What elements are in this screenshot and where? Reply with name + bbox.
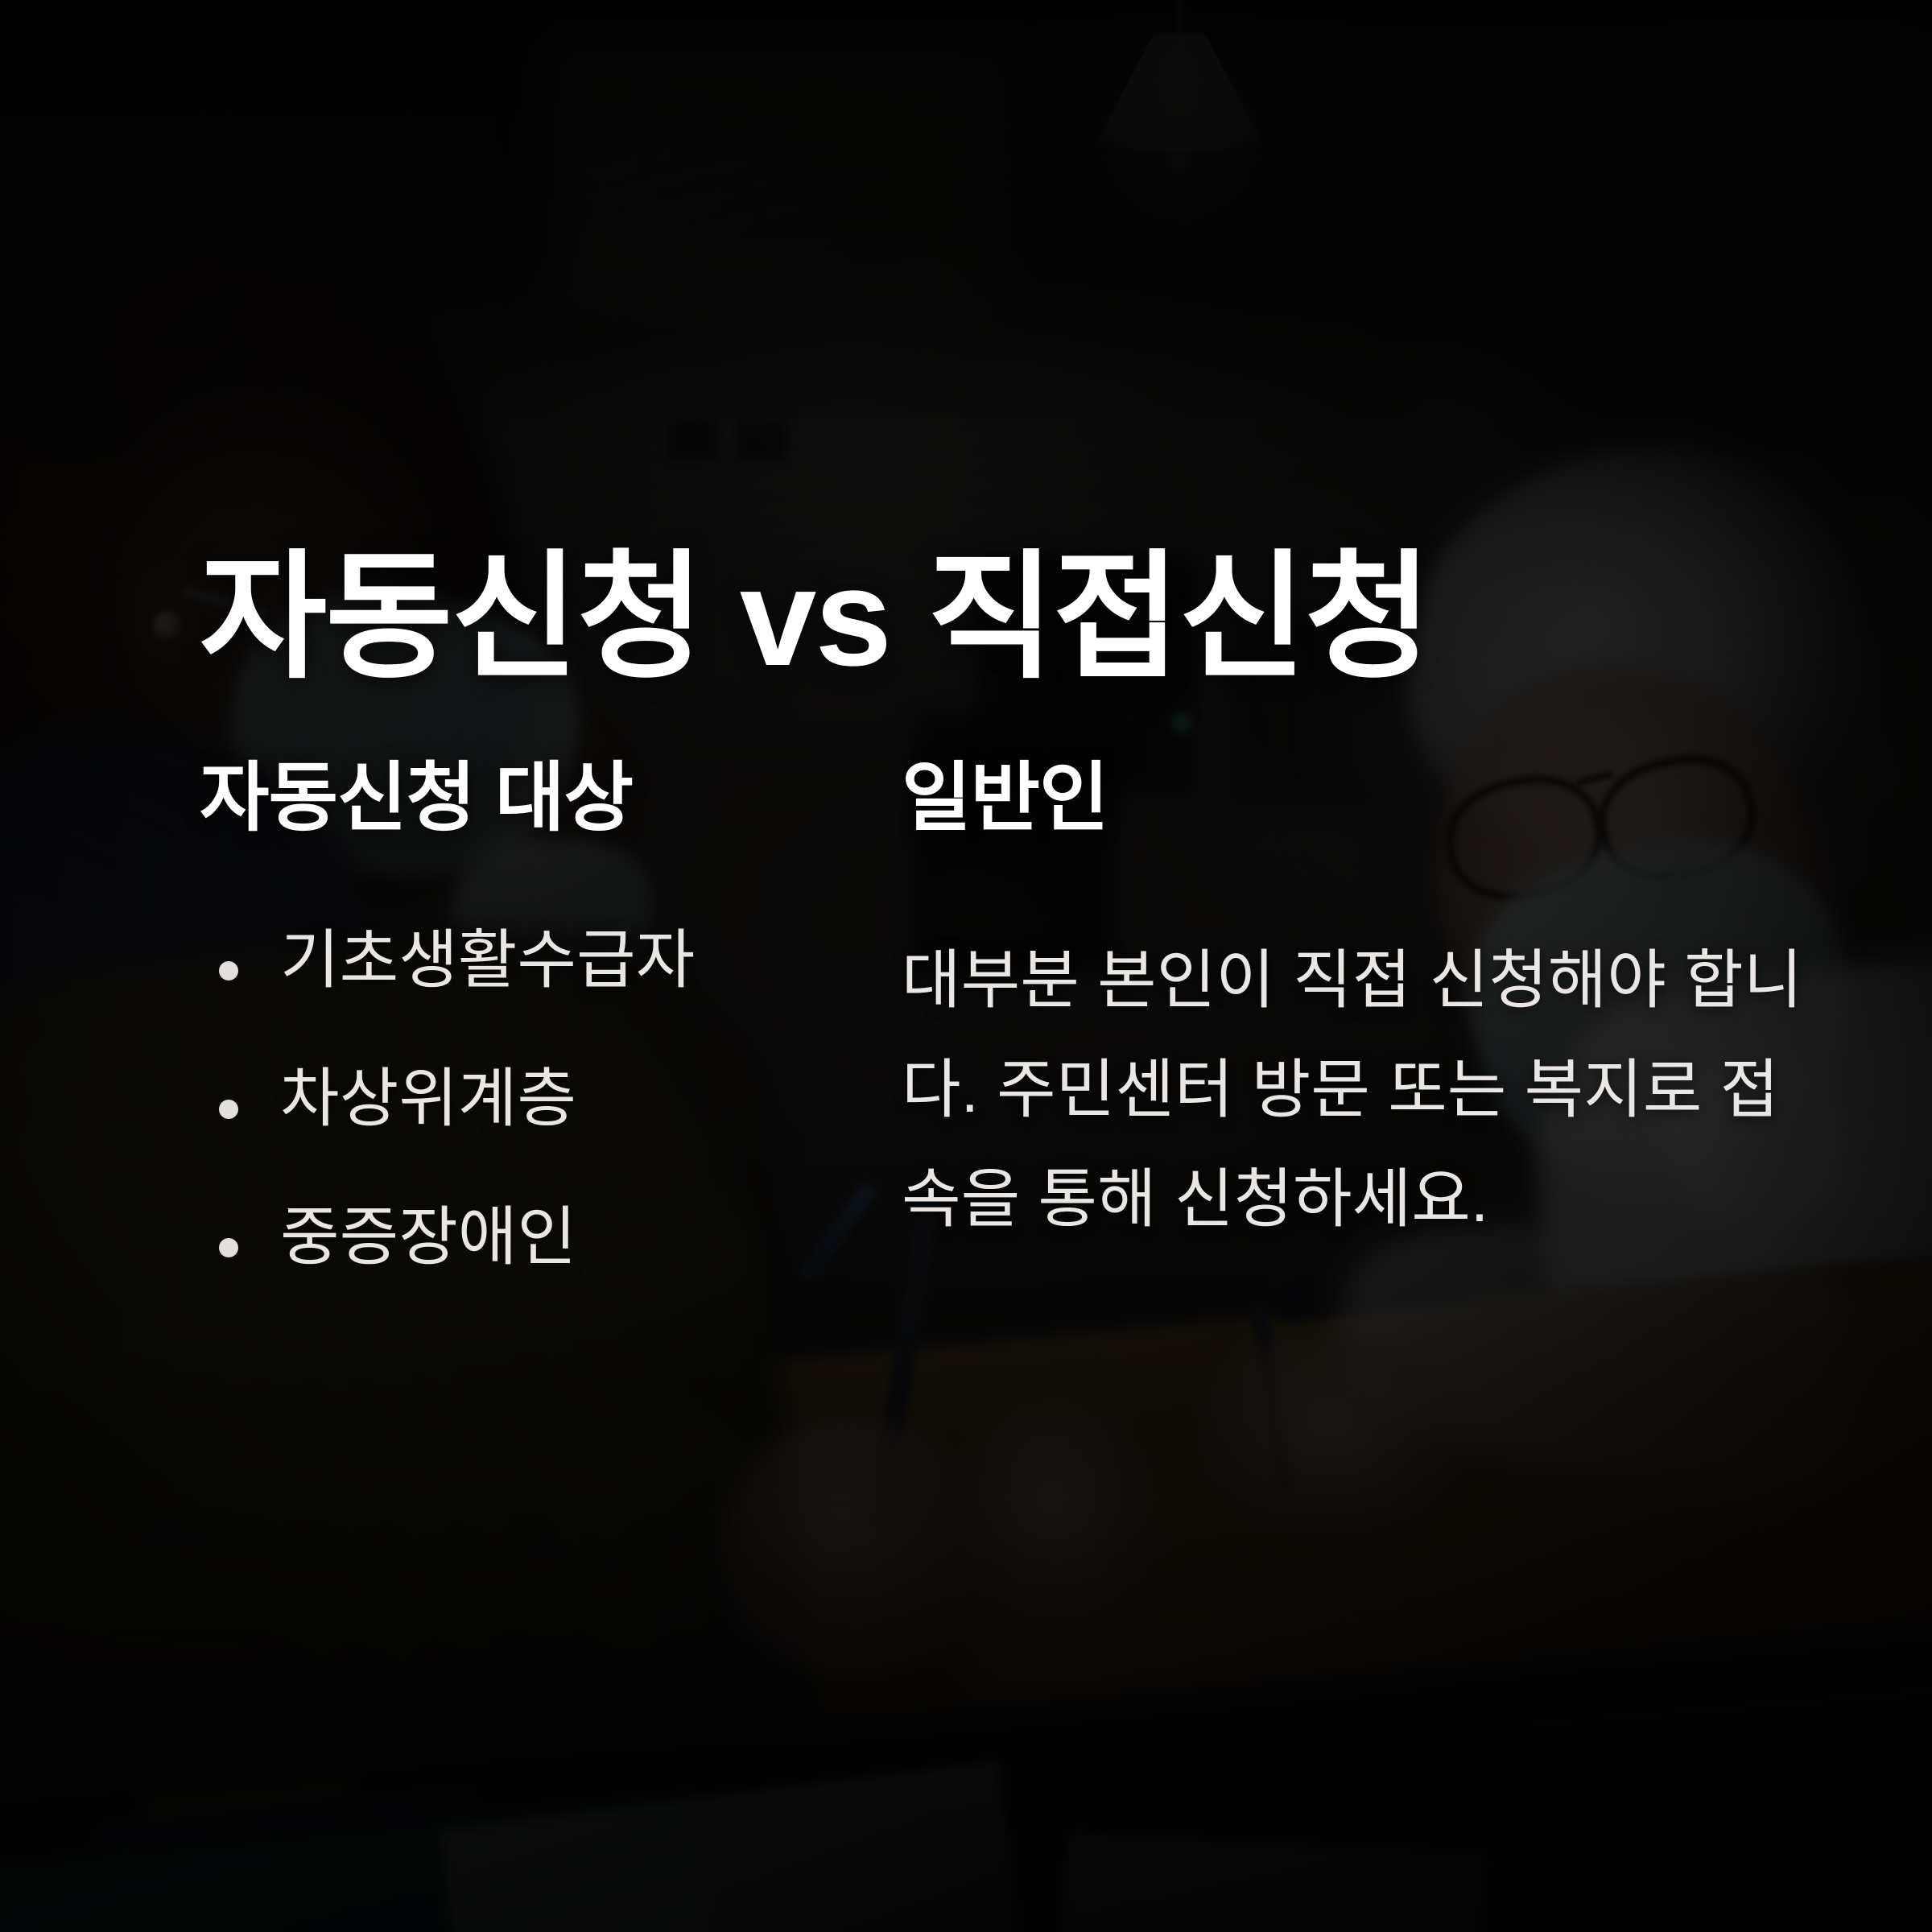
- column-direct-application: 일반인 대부분 본인이 직접 신청해야 합니다. 주민센터 방문 또는 복지로 …: [849, 757, 1932, 1273]
- eligibility-list: 기초생활수급자 차상위계층 중증장애인: [200, 926, 849, 1273]
- column-automatic-application: 자동신청 대상 기초생활수급자 차상위계층 중증장애인: [0, 757, 849, 1273]
- page-title: 자동신청 vs 직접신청: [200, 540, 1430, 696]
- list-item: 중증장애인: [200, 1203, 849, 1272]
- card-content: 자동신청 vs 직접신청 자동신청 대상 기초생활수급자 차상위계층 중증장애인…: [0, 0, 1932, 1932]
- list-item: 기초생활수급자: [200, 926, 849, 995]
- left-column-heading: 자동신청 대상: [200, 757, 849, 839]
- right-column-heading: 일반인: [902, 757, 1932, 839]
- info-card: 자동신청 vs 직접신청 자동신청 대상 기초생활수급자 차상위계층 중증장애인…: [0, 0, 1932, 1932]
- list-item: 차상위계층: [200, 1064, 849, 1133]
- comparison-columns: 자동신청 대상 기초생활수급자 차상위계층 중증장애인 일반인 대부분 본인이 …: [0, 757, 1932, 1273]
- right-column-paragraph: 대부분 본인이 직접 신청해야 합니다. 주민센터 방문 또는 복지로 접속을 …: [902, 926, 1835, 1254]
